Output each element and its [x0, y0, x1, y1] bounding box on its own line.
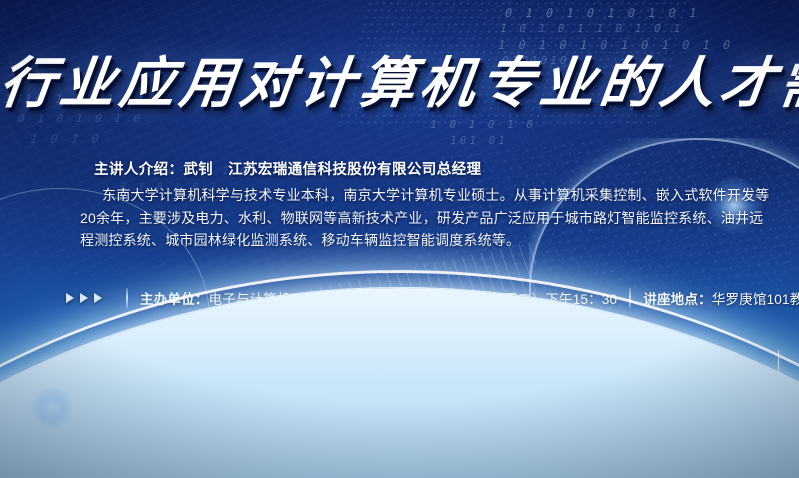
antenna-spire: [226, 346, 228, 478]
antenna-spire: [286, 366, 288, 478]
wireframe-cityscape: [0, 288, 799, 478]
building: [597, 422, 611, 478]
building: [344, 404, 364, 478]
organizer-info: 主办单位：电子与计算机工程学院: [140, 288, 346, 308]
building: [232, 398, 244, 478]
place-label: 讲座地点：: [643, 292, 712, 307]
globe-horizon: [0, 288, 799, 478]
divider: [126, 288, 128, 308]
building: [8, 400, 30, 478]
building: [102, 394, 132, 478]
antenna-spire: [356, 370, 358, 478]
horizon-light-beam: [0, 359, 368, 360]
binary-string: 1010: [173, 396, 213, 407]
play-arrow-icon: [94, 293, 102, 303]
building: [184, 406, 198, 478]
place-info: 讲座地点：华罗庚馆101教室: [643, 288, 799, 308]
organizer-value: 电子与计算机工程学院: [209, 292, 346, 307]
building: [80, 422, 98, 478]
building: [392, 412, 414, 478]
binary-string: 1 0 1 0 1 0 1: [298, 334, 428, 347]
building: [202, 420, 222, 478]
binary-string: 0 1 0 1 0 1: [298, 402, 401, 413]
bio-line: 程测控系统、城市园林绿化监测系统、移动车辆监控智能调度系统等。: [80, 229, 728, 252]
building: [743, 404, 761, 478]
binary-string: 1 0 1 0: [198, 342, 270, 355]
building: [505, 432, 519, 478]
time-value: 4月27日（周二）下午15：30: [440, 292, 617, 307]
binary-string: 0 1 0 1 0: [248, 356, 339, 369]
play-arrow-icon: [80, 293, 88, 303]
building: [418, 434, 432, 478]
binary-string: 0 1 0 1 0 1 0 1: [358, 350, 507, 363]
building: [661, 392, 687, 478]
antenna-spire: [778, 350, 780, 478]
binary-string: 1 0 1 0 1 0: [429, 118, 538, 131]
building: [296, 382, 322, 478]
lecture-poster: 1010 1 0101 0 1 0 1 0 1 0 1 0 1 0 0 1 0 …: [0, 0, 799, 478]
event-info-bar: 主办单位：电子与计算机工程学院 讲座时间：4月27日（周二）下午15：30 讲座…: [66, 288, 799, 308]
time-info: 讲座时间：4月27日（周二）下午15：30: [372, 288, 618, 308]
antenna-spire: [724, 360, 726, 478]
building: [50, 386, 76, 478]
organizer-label: 主办单位：: [140, 292, 209, 307]
antenna-spire: [24, 374, 26, 478]
building: [276, 430, 292, 478]
page-title: 行业应用对计算机专业的人才需求: [0, 52, 799, 114]
building: [765, 378, 789, 478]
building: [136, 412, 152, 478]
speaker-intro-line: 主讲人介绍：武钊 江苏宏瑞通信科技股份有限公司总经理: [94, 158, 481, 179]
building: [615, 382, 637, 478]
binary-string: 101 01: [449, 134, 510, 147]
glow-orb-left: [30, 386, 74, 430]
time-label: 讲座时间：: [372, 292, 441, 307]
building: [156, 378, 180, 478]
divider: [358, 288, 360, 308]
building: [693, 420, 707, 478]
glow-ring: [96, 344, 148, 396]
binary-string: 1 0 1 0 1 1 0 1 0 1: [499, 22, 685, 35]
triangle-arrows-group: [66, 293, 102, 303]
building: [569, 400, 593, 478]
building: [549, 428, 565, 478]
building: [250, 416, 272, 478]
building: [711, 388, 739, 478]
divider: [629, 288, 631, 308]
speaker-bio: 东南大学计算机科学与技术专业本科，南京大学计算机专业硕士。从事计算机采集控制、嵌…: [80, 184, 728, 252]
bio-line: 东南大学计算机科学与技术专业本科，南京大学计算机专业硕士。从事计算机采集控制、嵌…: [80, 184, 728, 207]
antenna-spire: [580, 364, 582, 478]
binary-string: 1 0 1 0: [28, 132, 104, 146]
building: [523, 408, 543, 478]
bio-line: 20余年，主要涉及电力、水利、物联网等高新技术产业，研发产品广泛应用于城市路灯智…: [80, 207, 728, 230]
binary-string: 0 1 0 1 0 1 0 1 0 1: [504, 6, 701, 20]
place-value: 华罗庚馆101教室: [712, 292, 799, 307]
building: [370, 426, 386, 478]
digital-mesh-decoration: [264, 241, 536, 419]
antenna-spire: [62, 362, 64, 478]
antenna-spire: [648, 354, 650, 478]
building: [641, 414, 657, 478]
play-arrow-icon: [66, 293, 74, 303]
building: [32, 416, 46, 478]
antenna-spire: [168, 352, 170, 478]
building: [326, 418, 340, 478]
